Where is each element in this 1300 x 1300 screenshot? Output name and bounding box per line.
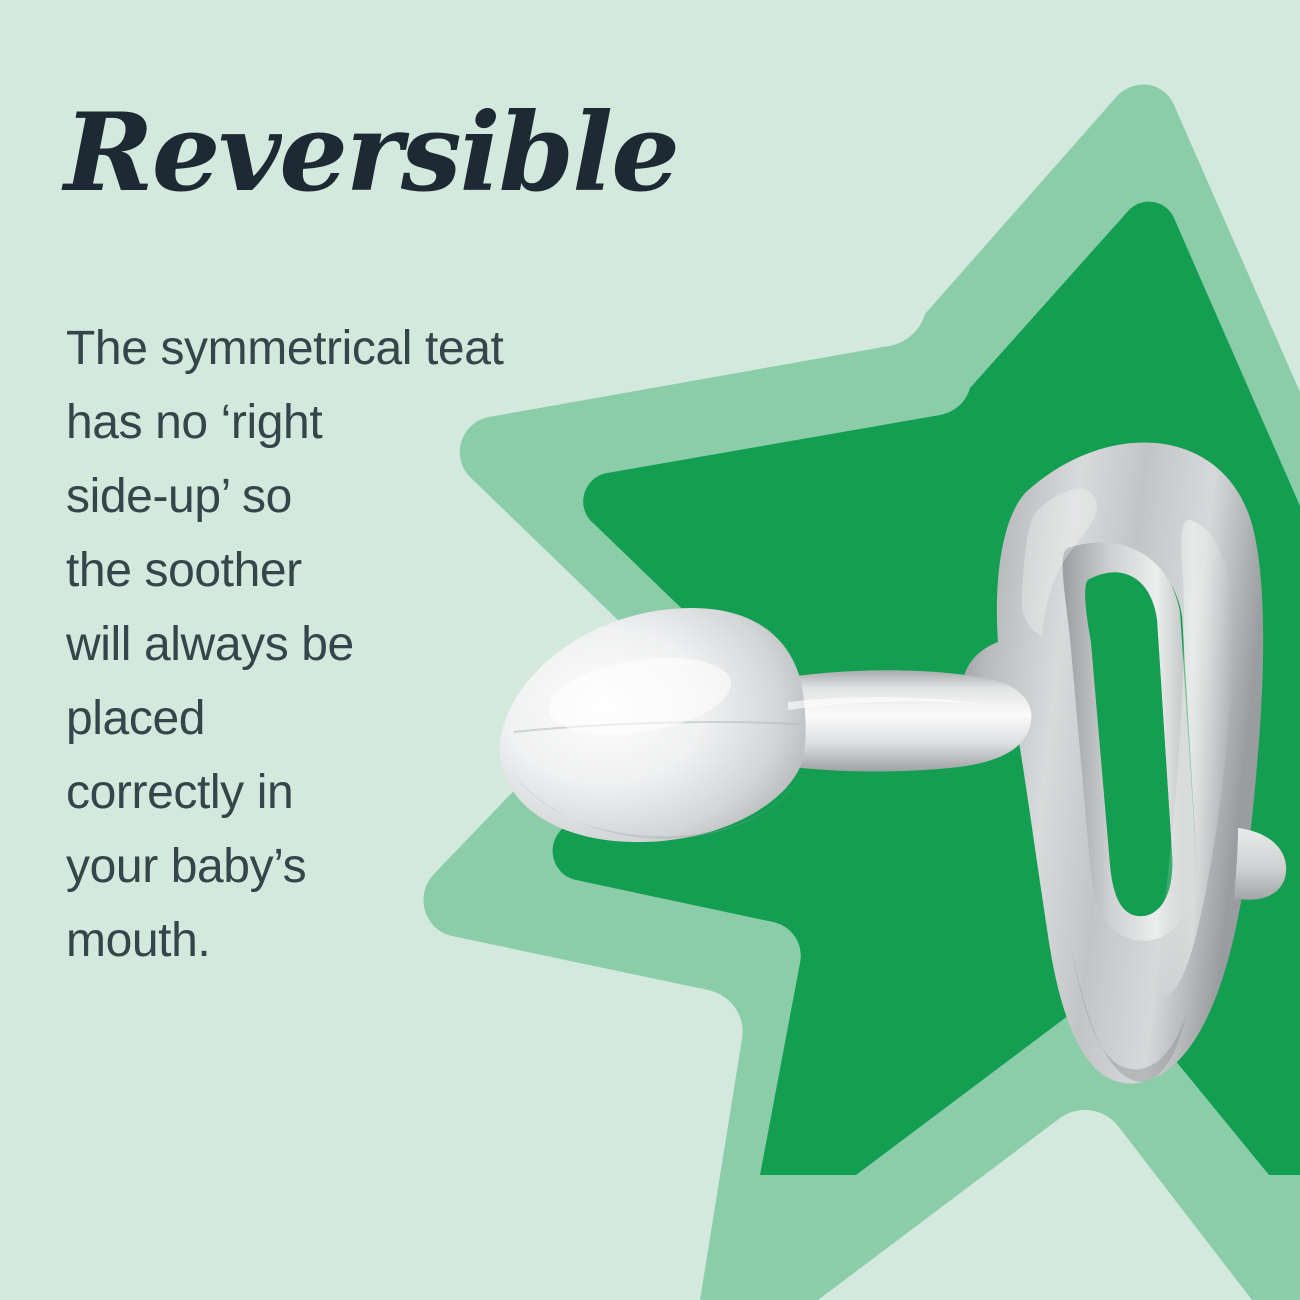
shield-side-tab	[1234, 828, 1286, 900]
body-copy: The symmetrical teat has no ‘right side-…	[66, 312, 466, 978]
soother-shield	[963, 442, 1287, 1083]
body-copy-line: your baby’s	[66, 830, 466, 904]
body-copy-line: The symmetrical teat	[66, 312, 466, 386]
silicone-teat	[500, 608, 1032, 842]
body-copy-line: side-up’ so	[66, 460, 466, 534]
headline-reversible: Reversible	[64, 92, 544, 222]
teat-neck	[770, 670, 1031, 771]
headline-text: Reversible	[61, 90, 678, 216]
body-copy-line: has no ‘right	[66, 386, 466, 460]
body-copy-line: mouth.	[66, 904, 466, 978]
body-copy-line: the soother	[66, 534, 466, 608]
baby-soother-pacifier	[470, 380, 1300, 1100]
body-copy-line: placed	[66, 682, 466, 756]
body-copy-line: will always be	[66, 608, 466, 682]
product-feature-card: Reversible The symmetrical teat has no ‘…	[0, 0, 1300, 1300]
body-copy-line: correctly in	[66, 756, 466, 830]
